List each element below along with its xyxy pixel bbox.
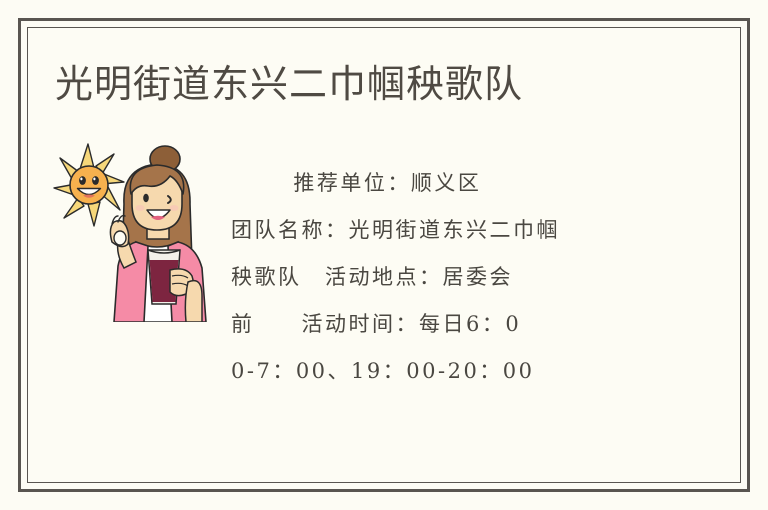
team-details-block: 推荐单位：顺义区 团队名称：光明街道东兴二巾帼 秧歌队 活动地点：居委会 前 活…	[231, 160, 661, 395]
woman-drinking-illustration	[110, 146, 206, 322]
detail-line-location: 秧歌队 活动地点：居委会	[231, 254, 661, 301]
detail-line-time: 前 活动时间：每日6：0	[231, 301, 661, 348]
info-card: 光明街道东兴二巾帼秧歌队	[0, 0, 768, 510]
smiling-sun-icon	[54, 144, 124, 226]
detail-line-time-cont: 0-7：00、19：00-20：00	[231, 348, 661, 395]
detail-line-team-name: 团队名称：光明街道东兴二巾帼	[231, 207, 661, 254]
illustration-sun-and-woman	[52, 142, 232, 322]
detail-line-recommender: 推荐单位：顺义区	[231, 160, 661, 207]
page-title: 光明街道东兴二巾帼秧歌队	[55, 62, 523, 108]
